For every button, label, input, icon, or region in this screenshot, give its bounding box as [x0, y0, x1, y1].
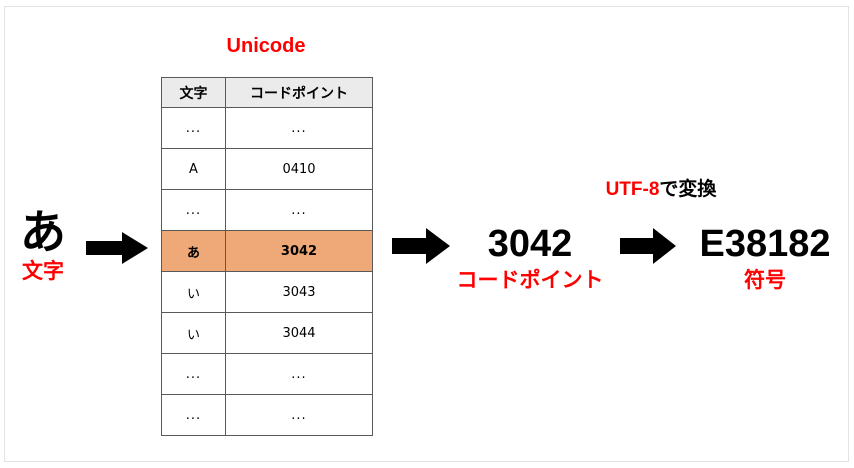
cell-char: ...: [162, 190, 226, 231]
table-row: ... ...: [162, 354, 373, 395]
cell-char: あ: [162, 231, 226, 272]
source-character: あ: [12, 206, 74, 258]
table-row: ... ...: [162, 108, 373, 149]
right-arrow-icon: [86, 232, 148, 264]
encoded-value: E38182: [692, 222, 838, 266]
right-arrow-icon: [392, 228, 450, 264]
cell-codepoint: 3043: [226, 272, 373, 313]
cell-char: ...: [162, 395, 226, 436]
column-header-char: 文字: [162, 78, 226, 108]
cell-char: い: [162, 272, 226, 313]
encoded-label: 符号: [700, 267, 830, 293]
source-character-label: 文字: [10, 258, 76, 284]
conversion-note: UTF-8で変換: [568, 176, 754, 203]
right-arrow-icon: [620, 228, 676, 264]
table-header-row: 文字 コードポイント: [162, 78, 373, 108]
cell-char: い: [162, 313, 226, 354]
conversion-note-action: で変換: [659, 178, 716, 200]
cell-codepoint: 0410: [226, 149, 373, 190]
cell-codepoint: 3042: [226, 231, 373, 272]
table-title: Unicode: [161, 33, 371, 59]
codepoint-value: 3042: [455, 222, 605, 266]
cell-codepoint: ...: [226, 395, 373, 436]
slide-canvas: あ 文字 Unicode 文字 コードポイント ... ... A 0410 .…: [0, 0, 854, 468]
cell-char: ...: [162, 108, 226, 149]
table-row: A 0410: [162, 149, 373, 190]
table-row-highlighted: あ 3042: [162, 231, 373, 272]
table-row: い 3043: [162, 272, 373, 313]
cell-codepoint: ...: [226, 190, 373, 231]
cell-char: ...: [162, 354, 226, 395]
table-row: い 3044: [162, 313, 373, 354]
table-row: ... ...: [162, 190, 373, 231]
cell-codepoint: ...: [226, 108, 373, 149]
cell-codepoint: 3044: [226, 313, 373, 354]
cell-codepoint: ...: [226, 354, 373, 395]
cell-char: A: [162, 149, 226, 190]
column-header-codepoint: コードポイント: [226, 78, 373, 108]
unicode-table: 文字 コードポイント ... ... A 0410 ... ... あ 3042: [161, 77, 373, 436]
conversion-note-encoding: UTF-8: [606, 179, 660, 200]
table-row: ... ...: [162, 395, 373, 436]
codepoint-label: コードポイント: [432, 267, 628, 293]
